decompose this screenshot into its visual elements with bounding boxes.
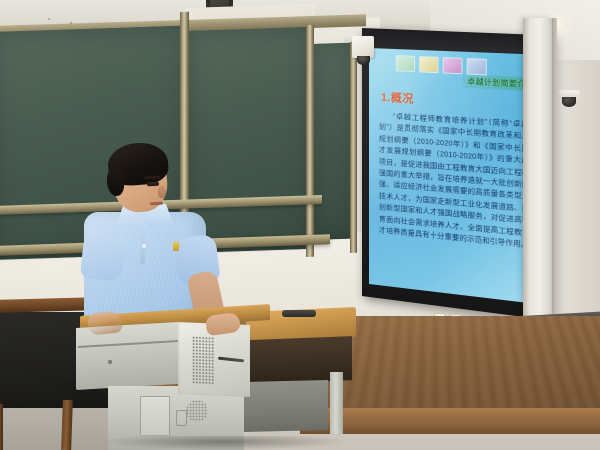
wall-camera-icon: [357, 56, 370, 65]
lectern-shadow: [100, 436, 350, 450]
chalkboard-panel-center: [186, 27, 314, 253]
slide-section-heading: 1.概况: [381, 89, 414, 107]
stage-front-edge: [300, 408, 600, 434]
lectern-handle[interactable]: [282, 310, 316, 317]
wall-mark: [70, 22, 72, 24]
dome-camera-icon: [562, 97, 576, 107]
lectern-lock-icon[interactable]: [108, 360, 112, 364]
wall-mark: [48, 18, 50, 20]
lecture-hall-photo: 卓越计划简要介绍 1.概况 “卓越工程师教育培养计划”（简称“卓越计划”）是贯彻…: [0, 0, 600, 450]
projection-screen: 卓越计划简要介绍 1.概况 “卓越工程师教育培养计划”（简称“卓越计划”）是贯彻…: [369, 48, 544, 305]
slide-thumbnail-row: [396, 55, 487, 75]
wall-camera-body: [352, 36, 374, 58]
presenter-nose: [158, 186, 166, 198]
chalkboard-divider-3: [350, 38, 357, 253]
chair-leg: [0, 404, 3, 450]
presenter-left-hand: [87, 310, 123, 335]
slide-thumbnail-1: [396, 55, 415, 72]
presenter-shirt-button: [142, 244, 146, 248]
lectern-base-right: [244, 380, 328, 432]
lectern-speaker-icon: [186, 400, 208, 422]
slide-paragraph: “卓越工程师教育培养计划”（简称“卓越计划”）是贯彻落实《国家中长期教育改革和发…: [379, 111, 538, 253]
lectern-speaker-grille-icon: [192, 336, 214, 385]
wall-pillar-edge: [552, 18, 557, 348]
slide-thumbnail-4: [467, 58, 487, 75]
lectern-leg-right: [330, 372, 343, 434]
wall-pillar: [523, 18, 553, 348]
presenter-eye: [147, 182, 159, 187]
lectern-access-panel[interactable]: [140, 396, 170, 436]
slide-body-text: “卓越工程师教育培养计划”（简称“卓越计划”）是贯彻落实《国家中长期教育改革和发…: [379, 111, 538, 254]
presenter-shirt-logo: [173, 242, 179, 251]
chair-leg: [61, 400, 73, 450]
slide-thumbnail-3: [443, 57, 463, 74]
slide-thumbnail-2: [419, 56, 438, 73]
chalkboard-divider-2: [306, 25, 314, 257]
